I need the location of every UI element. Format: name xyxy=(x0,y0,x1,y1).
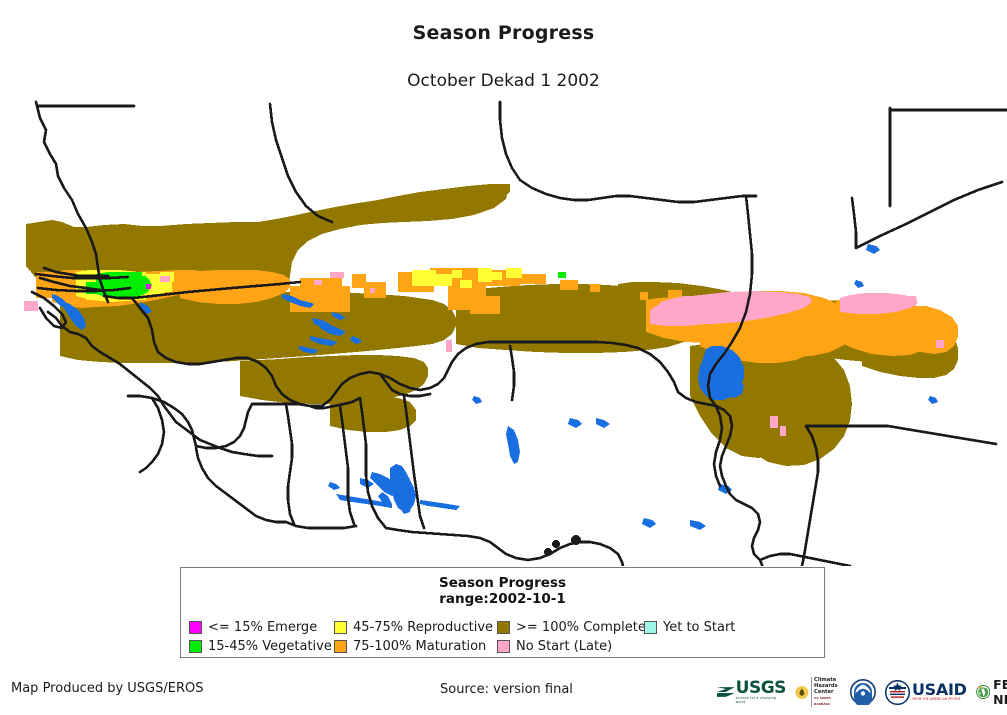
legend-swatch-complete xyxy=(497,621,510,634)
legend-label-emerge: <= 15% Emerge xyxy=(208,620,317,635)
chc-subtext: UC SANTA BARBARA xyxy=(814,695,841,707)
map-produced-by-text: Map Produced by USGS/EROS xyxy=(11,681,204,696)
legend-column-2: 45-75% Reproductive 75-100% Maturation xyxy=(334,619,497,655)
fews-globe-icon xyxy=(976,681,990,703)
page-title: Season Progress xyxy=(0,22,1007,44)
legend-item-maturation[interactable]: 75-100% Maturation xyxy=(334,638,497,655)
usaid-logo-subtext: FROM THE AMERICAN PEOPLE xyxy=(912,697,967,701)
legend-swatch-maturation xyxy=(334,640,347,653)
legend-column-4: Yet to Start xyxy=(644,619,774,655)
water-drop-icon xyxy=(795,684,809,701)
noaa-seal-icon xyxy=(850,679,876,705)
legend-swatch-emerge xyxy=(189,621,202,634)
map-subtitle: October Dekad 1 2002 xyxy=(0,71,1007,91)
legend-item-reproductive[interactable]: 45-75% Reproductive xyxy=(334,619,497,636)
usaid-seal-icon xyxy=(885,680,910,705)
logo-strip: USGS science for a changing world Climat… xyxy=(716,676,1007,708)
usaid-logo: USAID FROM THE AMERICAN PEOPLE xyxy=(885,677,967,707)
usgs-logo-subtext: science for a changing world xyxy=(736,696,787,704)
map-canvas[interactable] xyxy=(0,96,1007,566)
legend-item-no-start-late[interactable]: No Start (Late) xyxy=(497,638,644,655)
legend-swatch-no-start-late xyxy=(497,640,510,653)
legend-item-complete[interactable]: >= 100% Complete xyxy=(497,619,644,636)
legend-label-yet-to-start: Yet to Start xyxy=(663,620,735,635)
map-source-text: Source: version final xyxy=(440,682,573,697)
legend: Season Progress range:2002-10-1 <= 15% E… xyxy=(180,567,825,658)
legend-item-yet-to-start[interactable]: Yet to Start xyxy=(644,619,774,636)
usgs-logo-text: USGS xyxy=(736,681,787,696)
usgs-mark-icon xyxy=(716,683,736,701)
legend-items-grid: <= 15% Emerge 15-45% Vegetative 45-75% R… xyxy=(189,619,774,655)
legend-swatch-vegetative xyxy=(189,640,202,653)
legend-column-1: <= 15% Emerge 15-45% Vegetative xyxy=(189,619,334,655)
legend-title: Season Progress xyxy=(181,575,824,591)
legend-column-3: >= 100% Complete No Start (Late) xyxy=(497,619,644,655)
usaid-logo-text: USAID xyxy=(912,683,967,697)
legend-item-vegetative[interactable]: 15-45% Vegetative xyxy=(189,638,334,655)
legend-range: range:2002-10-1 xyxy=(181,591,824,607)
legend-label-reproductive: 45-75% Reproductive xyxy=(353,620,493,635)
legend-label-no-start-late: No Start (Late) xyxy=(516,639,612,654)
fews-net-logo-text: FEWS NET xyxy=(993,677,1007,707)
legend-swatch-yet-to-start xyxy=(644,621,657,634)
climate-hazards-center-logo: Climate Hazards Center UC SANTA BARBARA xyxy=(795,677,841,707)
raster-class-emerge xyxy=(146,284,151,289)
legend-swatch-reproductive xyxy=(334,621,347,634)
legend-label-complete: >= 100% Complete xyxy=(516,620,646,635)
noaa-logo xyxy=(850,677,876,707)
legend-label-vegetative: 15-45% Vegetative xyxy=(208,639,332,654)
legend-label-maturation: 75-100% Maturation xyxy=(353,639,486,654)
legend-item-emerge[interactable]: <= 15% Emerge xyxy=(189,619,334,636)
usgs-logo: USGS science for a changing world xyxy=(716,677,786,707)
fews-net-logo: FEWS NET xyxy=(976,677,1007,707)
